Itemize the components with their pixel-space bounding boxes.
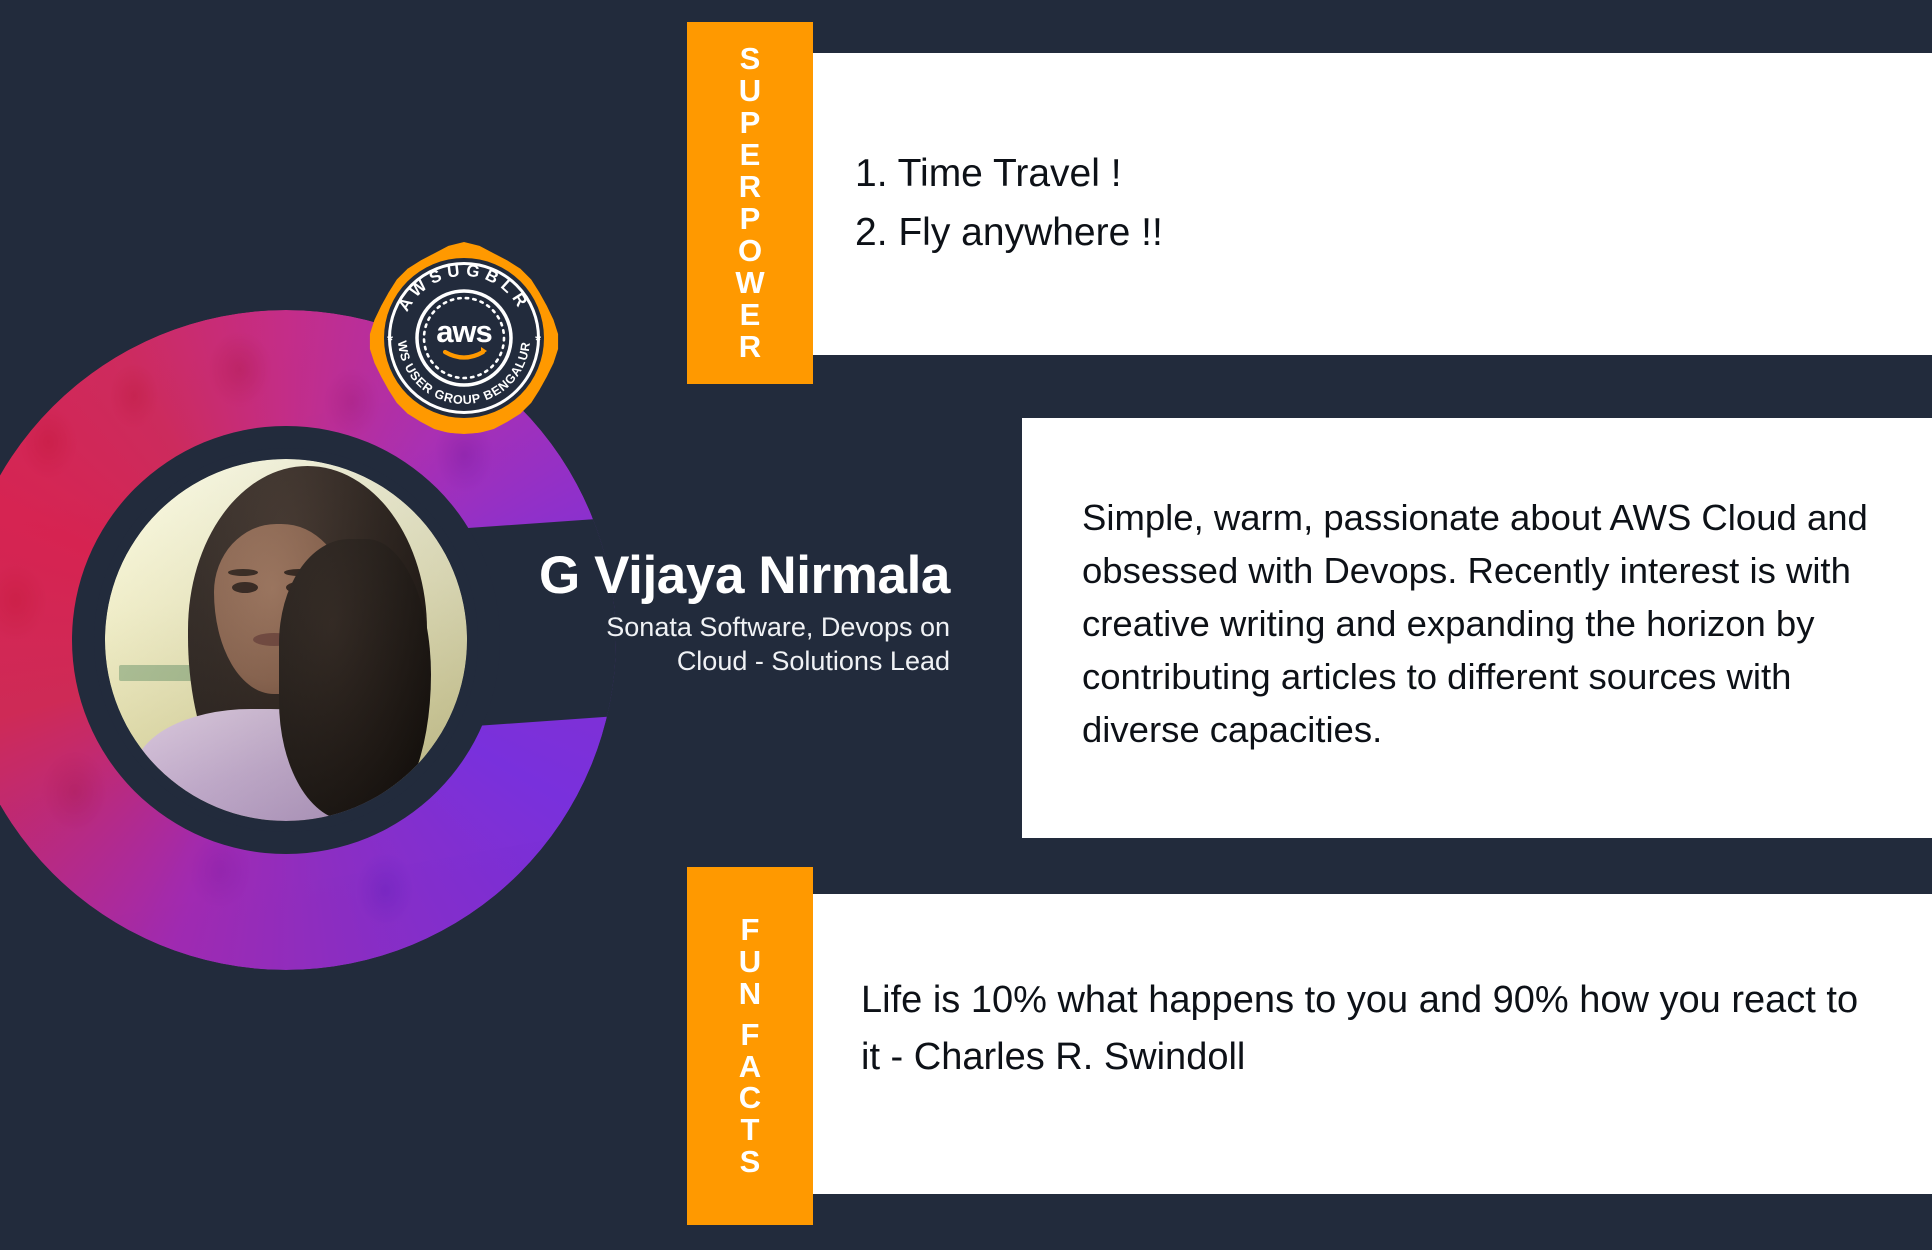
badge-star-left-icon: * bbox=[387, 332, 393, 349]
superpower-char: O bbox=[738, 235, 762, 267]
speaker-name: G Vijaya Nirmala bbox=[300, 548, 950, 604]
badge-artwork: AWSUGBLR AWS USER GROUP BENGALURU * * aw… bbox=[368, 242, 560, 434]
funfacts-label-bar: F U N F A C T S bbox=[687, 867, 813, 1225]
funfacts-content: Life is 10% what happens to you and 90% … bbox=[861, 972, 1884, 1086]
badge-star-right-icon: * bbox=[535, 332, 541, 349]
superpower-content: 1. Time Travel ! 2. Fly anywhere !! bbox=[855, 145, 1892, 262]
funfacts-char: N bbox=[739, 978, 761, 1010]
superpower-char: R bbox=[739, 171, 761, 203]
speaker-role: Sonata Software, Devops on Cloud - Solut… bbox=[300, 610, 950, 679]
funfacts-panel: Life is 10% what happens to you and 90% … bbox=[813, 894, 1932, 1194]
funfacts-char: F bbox=[741, 1019, 760, 1051]
superpower-char: P bbox=[740, 107, 761, 139]
speaker-role-line-1: Sonata Software, Devops on bbox=[300, 610, 950, 645]
bio-content: Simple, warm, passionate about AWS Cloud… bbox=[1082, 492, 1886, 757]
superpower-char: S bbox=[740, 43, 761, 75]
superpower-char: E bbox=[740, 139, 761, 171]
funfacts-char: T bbox=[741, 1114, 760, 1146]
speaker-role-line-2: Cloud - Solutions Lead bbox=[300, 644, 950, 679]
superpower-char: W bbox=[735, 267, 764, 299]
funfacts-char: U bbox=[739, 946, 761, 978]
bio-panel: Simple, warm, passionate about AWS Cloud… bbox=[1022, 418, 1932, 838]
superpower-panel: 1. Time Travel ! 2. Fly anywhere !! bbox=[813, 53, 1932, 355]
superpower-label-bar: S U P E R P O W E R bbox=[687, 22, 813, 384]
superpower-char: U bbox=[739, 75, 761, 107]
funfacts-char: C bbox=[739, 1082, 761, 1114]
speaker-identity: G Vijaya Nirmala Sonata Software, Devops… bbox=[300, 548, 950, 679]
funfacts-char: F bbox=[741, 914, 760, 946]
funfacts-quote: Life is 10% what happens to you and 90% … bbox=[861, 972, 1884, 1086]
bio-text: Simple, warm, passionate about AWS Cloud… bbox=[1082, 492, 1886, 757]
superpower-char: P bbox=[740, 203, 761, 235]
superpower-char: R bbox=[739, 331, 761, 363]
funfacts-char: A bbox=[739, 1051, 761, 1083]
superpower-char: E bbox=[740, 299, 761, 331]
aws-user-group-badge: AWSUGBLR AWS USER GROUP BENGALURU * * aw… bbox=[368, 242, 560, 434]
aws-wordmark: aws bbox=[436, 314, 492, 349]
superpower-item: 2. Fly anywhere !! bbox=[855, 204, 1892, 263]
superpower-item: 1. Time Travel ! bbox=[855, 145, 1892, 204]
funfacts-char: S bbox=[740, 1146, 761, 1178]
speaker-card: AWSUGBLR AWS USER GROUP BENGALURU * * aw… bbox=[0, 0, 1932, 1250]
